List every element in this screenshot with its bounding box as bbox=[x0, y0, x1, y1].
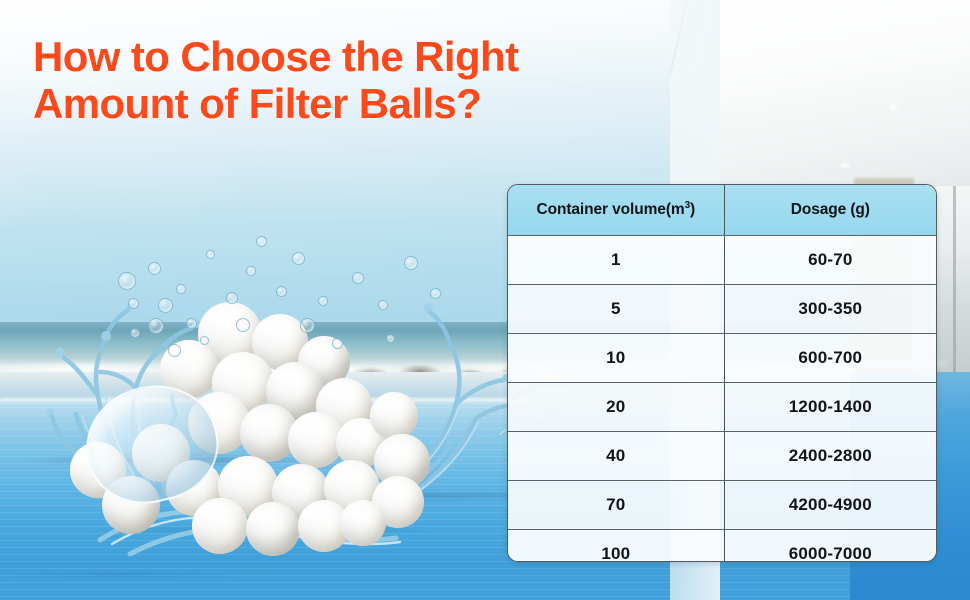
bubble bbox=[200, 336, 209, 345]
bubble bbox=[300, 318, 315, 333]
table-row: 40 2400-2800 bbox=[508, 432, 936, 481]
bubble bbox=[256, 236, 267, 247]
filter-balls-cluster bbox=[40, 300, 460, 560]
bubble bbox=[404, 256, 418, 270]
bubble bbox=[148, 318, 164, 334]
bubble bbox=[130, 328, 140, 338]
bubble bbox=[226, 292, 238, 304]
dosage-table: Container volume(m3) Dosage (g) 1 60-70 … bbox=[507, 184, 937, 562]
bubble bbox=[118, 272, 136, 290]
bubble bbox=[128, 298, 139, 309]
bubble bbox=[332, 338, 343, 349]
window-mullion-2 bbox=[953, 186, 956, 386]
column-header-container-volume-label: Container volume(m bbox=[537, 202, 685, 219]
column-header-container-volume: Container volume(m3) bbox=[508, 185, 724, 236]
bubble bbox=[148, 262, 161, 275]
cell-dosage: 600-700 bbox=[724, 334, 936, 383]
table-header-row: Container volume(m3) Dosage (g) bbox=[508, 185, 936, 236]
cell-dosage: 6000-7000 bbox=[724, 530, 936, 563]
cell-dosage: 2400-2800 bbox=[724, 432, 936, 481]
page-title: How to Choose the Right Amount of Filter… bbox=[33, 33, 593, 127]
bubble bbox=[378, 300, 388, 310]
table-row: 20 1200-1400 bbox=[508, 383, 936, 432]
filter-ball bbox=[340, 500, 386, 546]
bubble bbox=[318, 296, 328, 306]
cell-volume: 5 bbox=[508, 285, 724, 334]
bubble bbox=[430, 288, 441, 299]
bubble bbox=[386, 334, 395, 343]
bubble bbox=[292, 252, 305, 265]
table-row: 5 300-350 bbox=[508, 285, 936, 334]
cell-dosage: 300-350 bbox=[724, 285, 936, 334]
bubble bbox=[168, 344, 181, 357]
bubble bbox=[236, 318, 250, 332]
cell-volume: 1 bbox=[508, 236, 724, 285]
table-row: 70 4200-4900 bbox=[508, 481, 936, 530]
cell-volume: 40 bbox=[508, 432, 724, 481]
cell-dosage: 4200-4900 bbox=[724, 481, 936, 530]
bubble bbox=[186, 318, 197, 329]
cell-volume: 20 bbox=[508, 383, 724, 432]
cell-volume: 100 bbox=[508, 530, 724, 563]
promo-banner: How to Choose the Right Amount of Filter… bbox=[0, 0, 970, 600]
filter-ball bbox=[192, 498, 248, 554]
table-body: 1 60-70 5 300-350 10 600-700 20 1200-140… bbox=[508, 236, 936, 563]
table-row: 100 6000-7000 bbox=[508, 530, 936, 563]
filter-ball bbox=[370, 392, 418, 440]
cell-volume: 10 bbox=[508, 334, 724, 383]
cell-dosage: 1200-1400 bbox=[724, 383, 936, 432]
bubble bbox=[206, 250, 215, 259]
ceiling-downlight-2 bbox=[838, 162, 852, 169]
bubble bbox=[352, 272, 364, 284]
column-header-dosage: Dosage (g) bbox=[724, 185, 936, 236]
bubble bbox=[276, 286, 287, 297]
bubble bbox=[176, 284, 186, 294]
column-header-container-volume-suffix: ) bbox=[690, 202, 695, 219]
table-row: 10 600-700 bbox=[508, 334, 936, 383]
bubble bbox=[246, 266, 256, 276]
bubble bbox=[158, 298, 173, 313]
cell-volume: 70 bbox=[508, 481, 724, 530]
ceiling-downlight-1 bbox=[886, 104, 900, 111]
filter-ball bbox=[246, 502, 300, 556]
table-row: 1 60-70 bbox=[508, 236, 936, 285]
cell-dosage: 60-70 bbox=[724, 236, 936, 285]
